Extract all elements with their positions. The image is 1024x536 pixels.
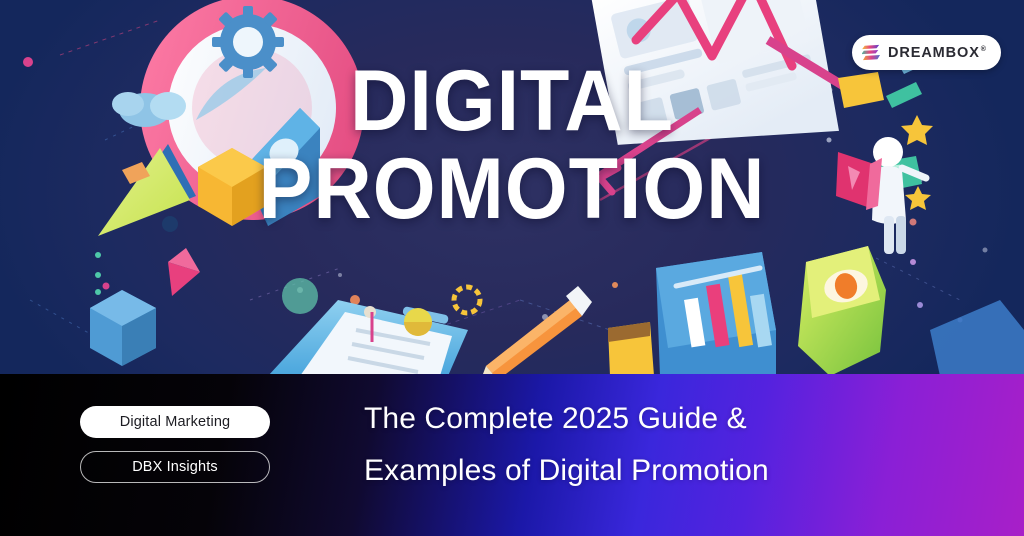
stacked-layers-icon <box>862 44 881 61</box>
pink-cone-icon <box>168 248 200 296</box>
dashboard-screen-icon <box>581 0 850 184</box>
yellow-card-icon <box>838 72 884 108</box>
green-head-icon <box>798 246 886 376</box>
orange-pencil-icon <box>480 286 592 376</box>
bar-chart-card-icon <box>656 252 776 376</box>
blue-cube-icon <box>90 290 156 366</box>
yellow-box-icon <box>608 322 654 376</box>
tag-label: Digital Marketing <box>120 414 231 430</box>
blue-accent-icon <box>930 300 1024 376</box>
tag-digital-marketing[interactable]: Digital Marketing <box>80 406 270 438</box>
footer-headline: The Complete 2025 Guide & Examples of Di… <box>364 393 1004 496</box>
tag-list: Digital Marketing DBX Insights <box>80 406 270 483</box>
headline-line-1: The Complete 2025 Guide & <box>364 402 747 435</box>
tag-label: DBX Insights <box>132 459 218 475</box>
trademark-symbol: ® <box>981 46 987 53</box>
gear-icon <box>212 6 284 78</box>
tag-dbx-insights[interactable]: DBX Insights <box>80 451 270 483</box>
dreambox-logo[interactable]: DREAMBOX® <box>852 35 1001 70</box>
promo-banner: DIGITAL PROMOTION <box>0 0 1024 536</box>
logo-text: DREAMBOX® <box>888 45 987 61</box>
headline-line-2: Examples of Digital Promotion <box>364 445 1004 497</box>
rocket-badge-icon <box>101 0 404 259</box>
